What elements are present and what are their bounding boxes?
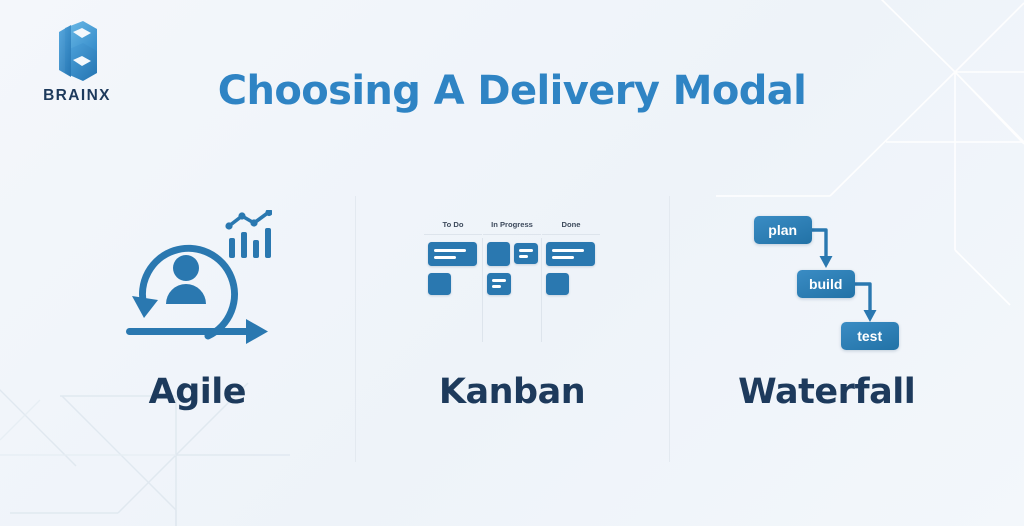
column-waterfall[interactable]: plan build test Waterfall: [669, 196, 984, 462]
kanban-cards-inprogress: [483, 235, 541, 331]
waterfall-flow-icon: plan build test: [669, 196, 984, 366]
card-line: [492, 279, 506, 282]
column-kanban[interactable]: To Do In Progress: [355, 196, 670, 462]
kanban-column-done: Done: [542, 220, 600, 342]
kanban-header-inprogress: In Progress: [483, 220, 541, 235]
kanban-header-done: Done: [542, 220, 600, 235]
arrow-head-plan-build: [819, 256, 832, 268]
card-line: [552, 256, 574, 259]
column-label-agile: Agile: [149, 372, 246, 412]
kanban-cards-todo: [424, 235, 482, 331]
slide-canvas: BRAINX Choosing A Delivery Modal: [0, 0, 1024, 526]
kanban-card[interactable]: [428, 242, 477, 266]
delivery-model-columns: Agile To Do: [40, 196, 984, 462]
kanban-cards-done: [542, 235, 600, 331]
waterfall-stage-build[interactable]: build: [797, 270, 855, 298]
arrow-head-build-test: [863, 310, 876, 322]
card-line: [492, 285, 501, 288]
card-line: [519, 255, 528, 258]
page-title: Choosing A Delivery Modal: [0, 68, 1024, 114]
bar-chart-trend: [226, 210, 273, 258]
card-line: [434, 249, 466, 252]
kanban-card[interactable]: [514, 243, 538, 264]
waterfall-diagram: plan build test: [744, 206, 910, 356]
agile-cycle-icon: [40, 196, 355, 366]
column-agile[interactable]: Agile: [40, 196, 355, 462]
person-avatar: [166, 255, 206, 304]
kanban-board: To Do In Progress: [424, 220, 600, 342]
kanban-header-todo: To Do: [424, 220, 482, 235]
kanban-column-todo: To Do: [424, 220, 482, 342]
kanban-card[interactable]: [428, 273, 451, 295]
kanban-card[interactable]: [487, 273, 511, 295]
kanban-board-icon: To Do In Progress: [355, 196, 670, 366]
horizontal-arrow: [126, 319, 268, 344]
card-line: [434, 256, 456, 259]
kanban-card[interactable]: [546, 273, 569, 295]
kanban-column-inprogress: In Progress: [483, 220, 541, 342]
waterfall-stage-test[interactable]: test: [841, 322, 899, 350]
cycle-arrow-head: [132, 296, 158, 318]
kanban-card[interactable]: [546, 242, 595, 266]
card-line: [519, 249, 533, 252]
waterfall-stage-plan[interactable]: plan: [754, 216, 812, 244]
column-label-waterfall: Waterfall: [738, 372, 915, 412]
kanban-card[interactable]: [487, 242, 510, 266]
card-line: [552, 249, 584, 252]
column-label-kanban: Kanban: [439, 372, 585, 412]
